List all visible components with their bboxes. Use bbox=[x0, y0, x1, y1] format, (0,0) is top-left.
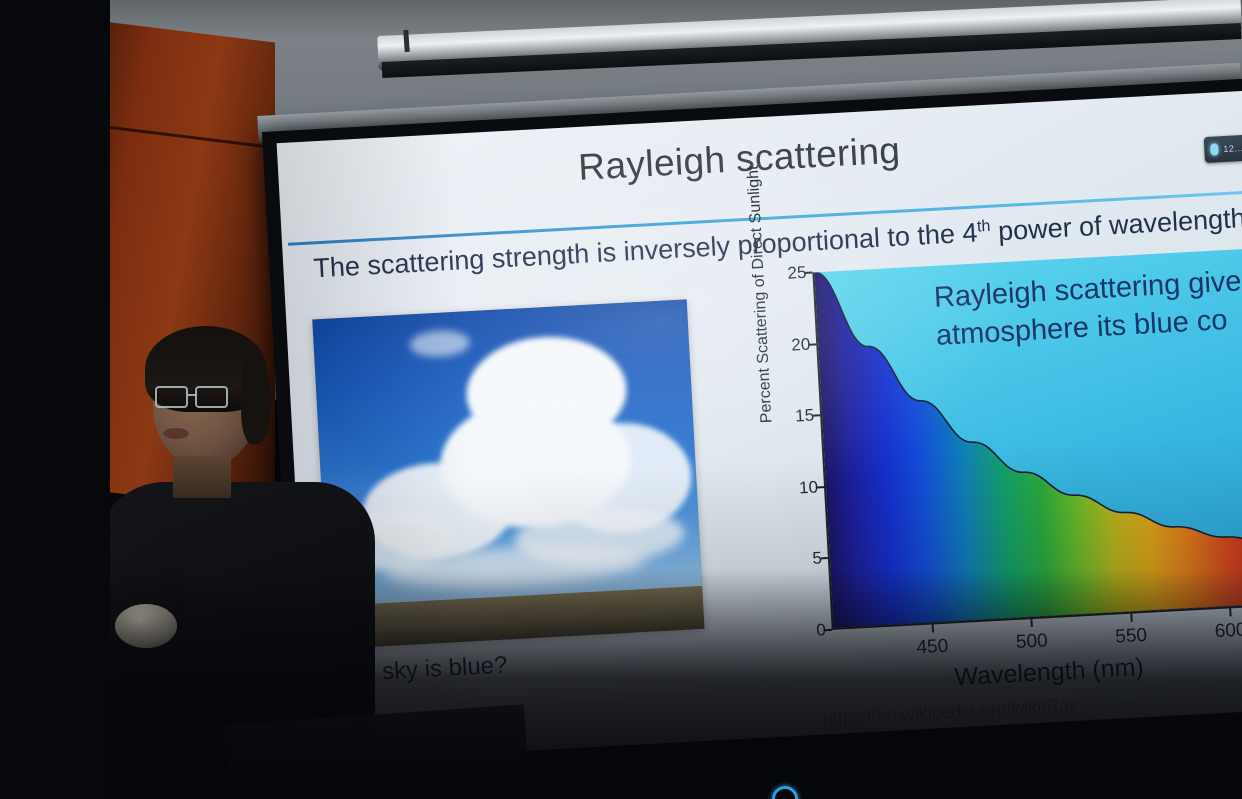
chart-x-tick-label: 500 bbox=[1015, 630, 1048, 654]
chart-x-tick-label: 600 bbox=[1214, 620, 1242, 644]
chart-y-tick-label: 20 bbox=[791, 334, 811, 355]
eyeglasses-bridge bbox=[188, 394, 197, 396]
chart-y-tick-label: 10 bbox=[799, 477, 819, 498]
rayleigh-scattering-chart: Percent Scattering of Direct Sunlight 05… bbox=[754, 248, 1242, 725]
presenter-neck bbox=[173, 456, 231, 498]
chart-x-tick-mark bbox=[1031, 619, 1033, 627]
chart-x-tick-label: 450 bbox=[916, 636, 949, 660]
chart-x-tick-label: 550 bbox=[1115, 625, 1148, 649]
dark-left-foreground bbox=[0, 0, 110, 799]
slide-title: Rayleigh scattering bbox=[577, 130, 901, 189]
badge-label: 12... bbox=[1223, 143, 1242, 154]
chart-y-axis-label: Percent Scattering of Direct Sunlight bbox=[745, 165, 777, 424]
eyeglasses-left-lens bbox=[155, 386, 188, 408]
chart-x-tick-mark bbox=[931, 624, 933, 632]
chart-x-tick-mark bbox=[1130, 614, 1132, 622]
eyeglasses-right-lens bbox=[195, 386, 228, 408]
presenter-right-hand bbox=[115, 604, 177, 648]
presenter-mouth bbox=[163, 428, 189, 439]
chart-source-url: https://en.wikipedia.org/wiki/Ray bbox=[822, 695, 1079, 730]
chart-y-tick-label: 25 bbox=[787, 263, 807, 284]
chart-y-tick-label: 15 bbox=[795, 406, 815, 427]
cursor-ring-icon bbox=[772, 786, 798, 799]
microphone-icon bbox=[1210, 143, 1219, 155]
projection-screen-frame: Rayleigh scattering The scattering stren… bbox=[262, 78, 1242, 771]
chart-plot-area: Rayleigh scattering gives atmosphere its… bbox=[812, 248, 1242, 630]
subtitle-text-after: power of wavelength bbox=[990, 203, 1242, 247]
presenter-toolbar-badge[interactable]: 12... bbox=[1204, 133, 1242, 164]
chart-x-tick-mark bbox=[1229, 608, 1231, 616]
presentation-slide: Rayleigh scattering The scattering stren… bbox=[277, 90, 1242, 762]
subtitle-ordinal-suffix: th bbox=[977, 218, 991, 236]
lecture-room-scene: Rayleigh scattering The scattering stren… bbox=[0, 0, 1242, 799]
